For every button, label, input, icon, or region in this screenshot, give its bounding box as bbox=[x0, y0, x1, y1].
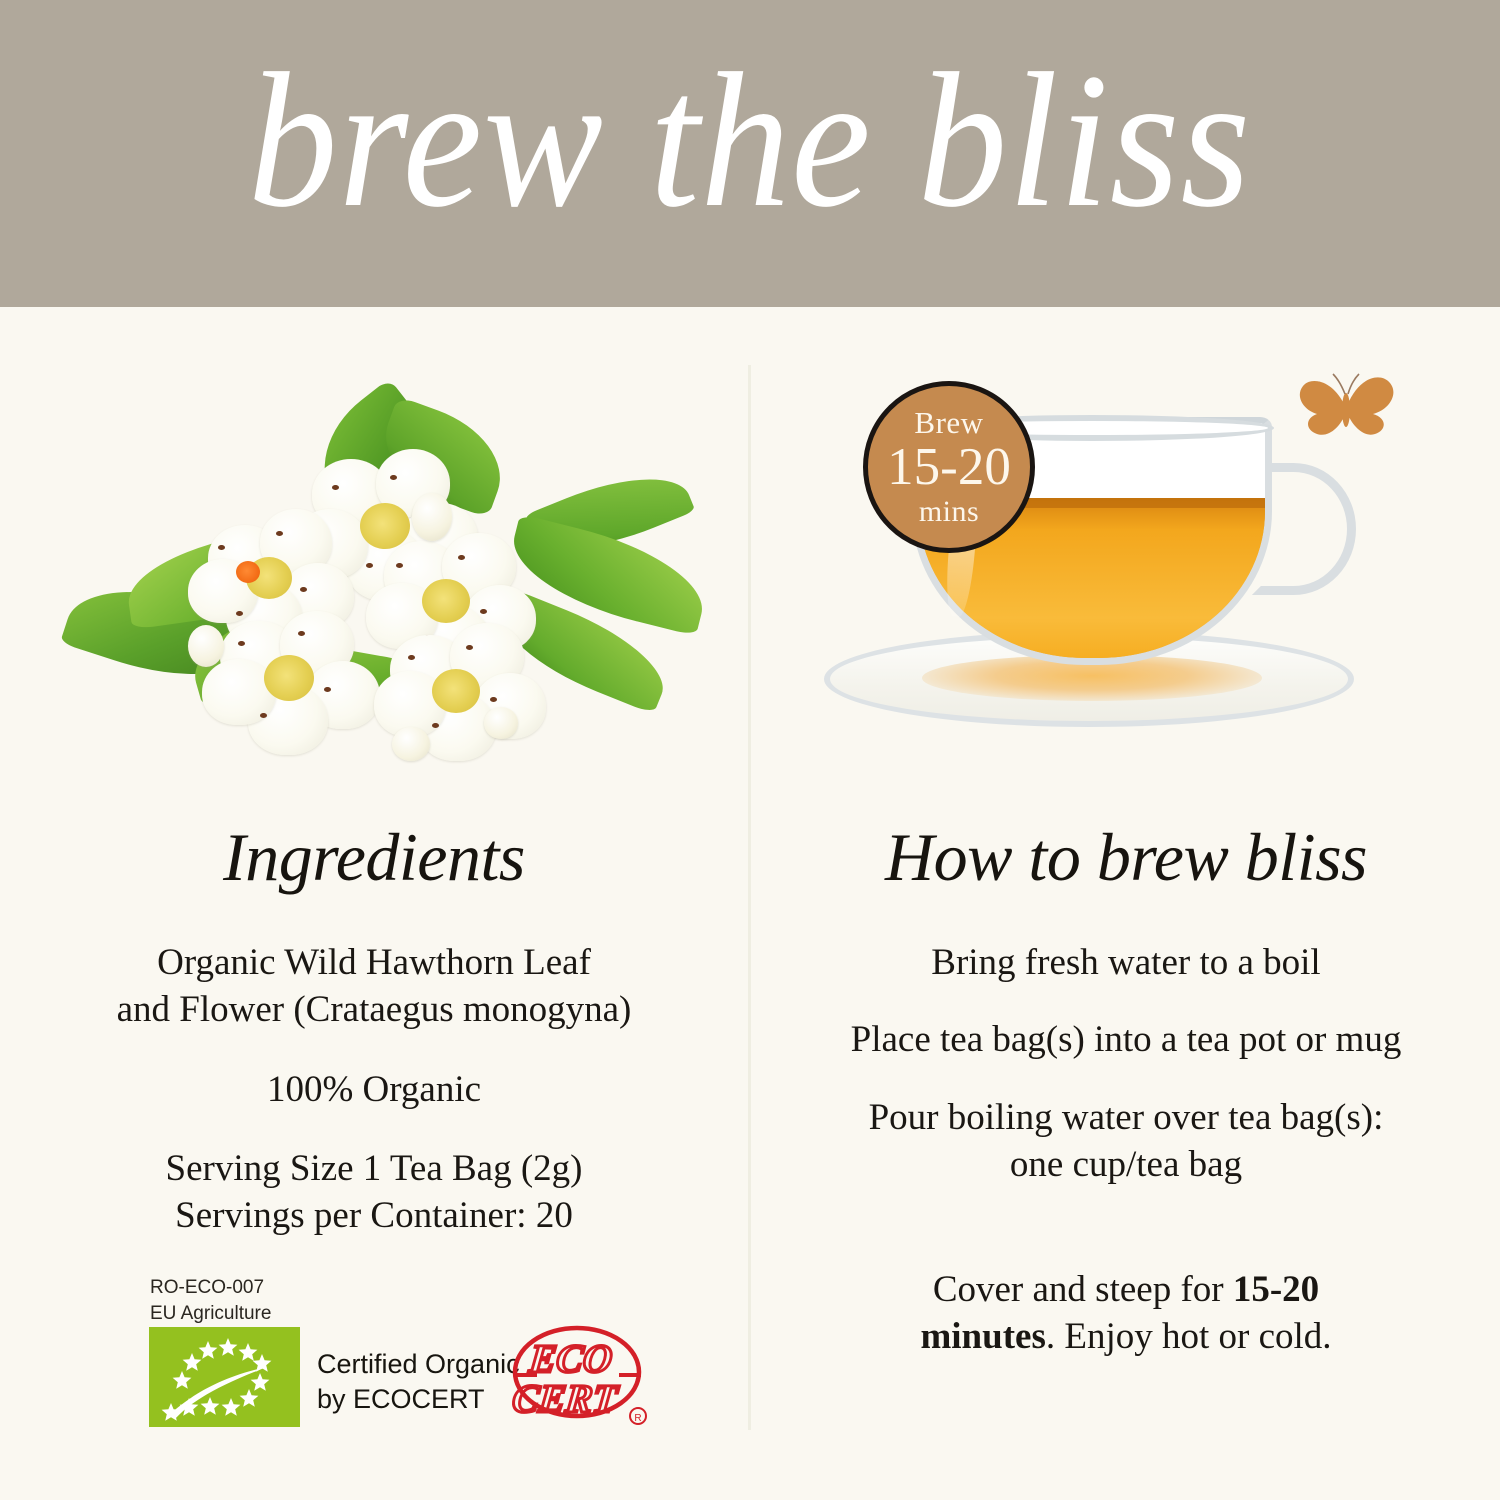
anther-dot bbox=[236, 611, 243, 616]
anther-dot bbox=[480, 609, 487, 614]
anther-dot bbox=[218, 545, 225, 550]
ingredients-text: Organic Wild Hawthorn Leaf and Flower (C… bbox=[0, 939, 748, 1240]
ecocert-logo: ECO CERT R bbox=[507, 1320, 652, 1432]
anther-dot bbox=[300, 587, 307, 592]
brew-step: Pour boiling water over tea bag(s): one … bbox=[752, 1094, 1500, 1189]
anther-dot bbox=[276, 531, 283, 536]
hawthorn-flower-image bbox=[0, 357, 748, 777]
brew-step-prefix: Cover and steep for bbox=[933, 1269, 1233, 1310]
anther-dot bbox=[260, 713, 267, 718]
flower-center bbox=[422, 579, 470, 623]
anther-dot bbox=[432, 723, 439, 728]
brew-step: Cover and steep for 15-20 minutes. Enjoy… bbox=[752, 1218, 1500, 1360]
anther-dot bbox=[396, 563, 403, 568]
brew-step-suffix: . Enjoy hot or cold. bbox=[1046, 1316, 1332, 1357]
anther-dot bbox=[490, 697, 497, 702]
anther-dot bbox=[324, 687, 331, 692]
product-info-panel: brew the bliss bbox=[0, 0, 1500, 1500]
svg-text:R: R bbox=[634, 1413, 641, 1424]
header-banner: brew the bliss bbox=[0, 0, 1500, 307]
ingredient-line: 100% Organic bbox=[0, 1066, 748, 1113]
brew-step: Place tea bag(s) into a tea pot or mug bbox=[752, 1016, 1500, 1063]
flower-center-accent bbox=[236, 561, 260, 583]
eu-organic-leaf-logo bbox=[149, 1327, 300, 1427]
anther-dot bbox=[332, 485, 339, 490]
anther-dot bbox=[466, 645, 473, 650]
ingredient-line: Organic Wild Hawthorn Leaf and Flower (C… bbox=[0, 939, 748, 1034]
flower-bud bbox=[188, 625, 224, 667]
hawthorn-flower-art bbox=[60, 397, 690, 752]
flower-center bbox=[432, 669, 480, 713]
ingredient-line: Serving Size 1 Tea Bag (2g) Servings per… bbox=[0, 1145, 748, 1240]
ingredients-column: Ingredients Organic Wild Hawthorn Leaf a… bbox=[0, 307, 748, 1500]
ingredients-heading: Ingredients bbox=[0, 823, 748, 891]
badge-line-brew: Brew bbox=[914, 407, 983, 438]
eu-leaf-stars bbox=[149, 1327, 300, 1427]
brewing-heading: How to brew bliss bbox=[752, 823, 1500, 891]
anther-dot bbox=[238, 641, 245, 646]
svg-text:CERT: CERT bbox=[510, 1376, 621, 1421]
flower-center bbox=[360, 503, 410, 549]
anther-dot bbox=[298, 631, 305, 636]
badge-line-duration: 15-20 bbox=[887, 441, 1011, 494]
brew-step: Bring fresh water to a boil bbox=[752, 939, 1500, 986]
anther-dot bbox=[390, 475, 397, 480]
brewing-steps: Bring fresh water to a boil Place tea ba… bbox=[752, 939, 1500, 1391]
svg-text:ECO: ECO bbox=[526, 1336, 614, 1381]
flower-bud bbox=[392, 727, 430, 761]
badge-line-units: mins bbox=[919, 497, 979, 527]
eu-organic-code: RO-ECO-007 EU Agriculture bbox=[150, 1275, 271, 1326]
anther-dot bbox=[366, 563, 373, 568]
ecocert-caption: Certified Organic by ECOCERT bbox=[317, 1347, 520, 1417]
page-title: brew the bliss bbox=[248, 49, 1252, 258]
content-area: Ingredients Organic Wild Hawthorn Leaf a… bbox=[0, 307, 1500, 1500]
certification-row: RO-ECO-007 EU Agriculture bbox=[149, 1275, 689, 1440]
flower-bud bbox=[412, 493, 452, 541]
flower-bud bbox=[484, 707, 518, 739]
flower-center bbox=[264, 655, 314, 701]
butterfly-icon bbox=[1293, 366, 1399, 440]
anther-dot bbox=[458, 555, 465, 560]
column-divider bbox=[748, 365, 751, 1430]
anther-dot bbox=[408, 655, 415, 660]
brew-time-badge: Brew 15-20 mins bbox=[863, 381, 1035, 553]
